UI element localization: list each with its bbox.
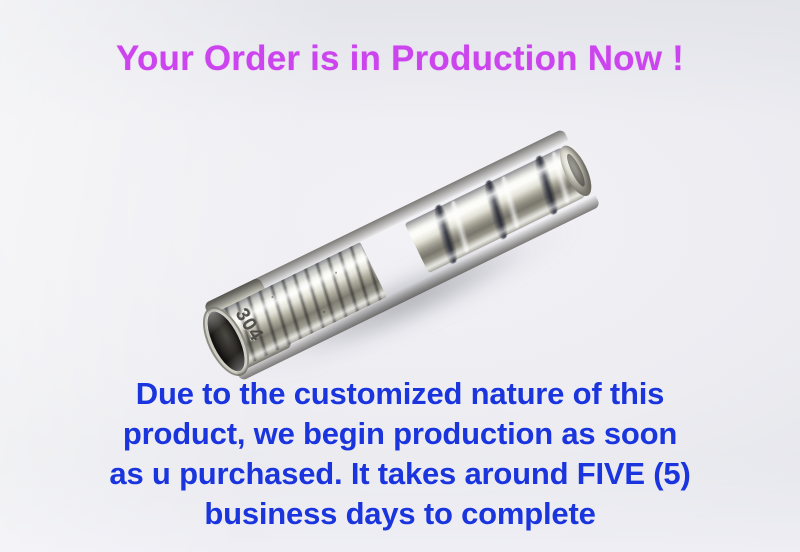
notice-line: product, we begin production as soon (0, 414, 800, 454)
promo-image-canvas: Your Order is in Production Now ! 304 (0, 0, 800, 552)
notice-line: business days to complete (0, 494, 800, 534)
notice-line: Due to the customized nature of this (0, 374, 800, 414)
page-title: Your Order is in Production Now ! (0, 38, 800, 80)
product-photo: 304 (180, 120, 620, 380)
production-notice-text: Due to the customized nature of this pro… (0, 374, 800, 534)
notice-line: as u purchased. It takes around FIVE (5) (0, 454, 800, 494)
